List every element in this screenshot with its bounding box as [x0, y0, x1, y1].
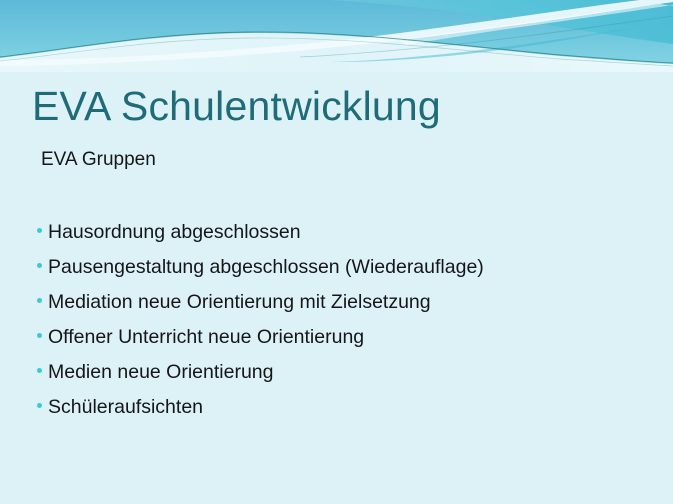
bullet-dot-icon: [37, 298, 42, 303]
wave-outline-stroke-secondary: [0, 38, 673, 66]
list-item: Offener Unterricht neue Orientierung: [36, 324, 636, 359]
list-item: Schüleraufsichten: [36, 394, 636, 429]
list-item: Medien neue Orientierung: [36, 359, 636, 394]
list-item: Hausordnung abgeschlossen: [36, 219, 636, 254]
wave-teal-crest: [330, 22, 673, 62]
wave-ribbon-thin: [400, 4, 673, 45]
wave-banner-graphic: [0, 0, 673, 72]
bullet-list: Hausordnung abgeschlossen Pausengestaltu…: [36, 219, 636, 429]
list-item-label: Hausordnung abgeschlossen: [48, 219, 301, 245]
wave-ribbon-upper: [0, 0, 673, 66]
wave-banner-svg: [0, 0, 673, 72]
bullet-dot-icon: [37, 263, 42, 268]
list-item-label: Offener Unterricht neue Orientierung: [48, 324, 364, 350]
bullet-dot-icon: [37, 333, 42, 338]
wave-accent-line: [300, 16, 673, 57]
slide-subtitle: EVA Gruppen: [41, 149, 156, 172]
wave-pale-lower: [0, 33, 673, 72]
wave-base-fill: [0, 0, 673, 72]
bullet-dot-icon: [37, 368, 42, 373]
list-item: Pausengestaltung abgeschlossen (Wiederau…: [36, 254, 636, 289]
bullet-dot-icon: [37, 403, 42, 408]
list-item-label: Medien neue Orientierung: [48, 359, 273, 385]
list-item-label: Pausengestaltung abgeschlossen (Wiederau…: [48, 254, 484, 280]
slide-canvas: EVA Schulentwicklung EVA Gruppen Hausord…: [0, 0, 673, 504]
list-item-label: Schüleraufsichten: [48, 394, 203, 420]
wave-right-band: [330, 0, 673, 44]
page-title: EVA Schulentwicklung: [32, 84, 441, 129]
list-item: Mediation neue Orientierung mit Zielsetz…: [36, 289, 636, 324]
wave-outline-stroke: [0, 32, 673, 63]
bullet-dot-icon: [37, 228, 42, 233]
list-item-label: Mediation neue Orientierung mit Zielsetz…: [48, 289, 431, 315]
